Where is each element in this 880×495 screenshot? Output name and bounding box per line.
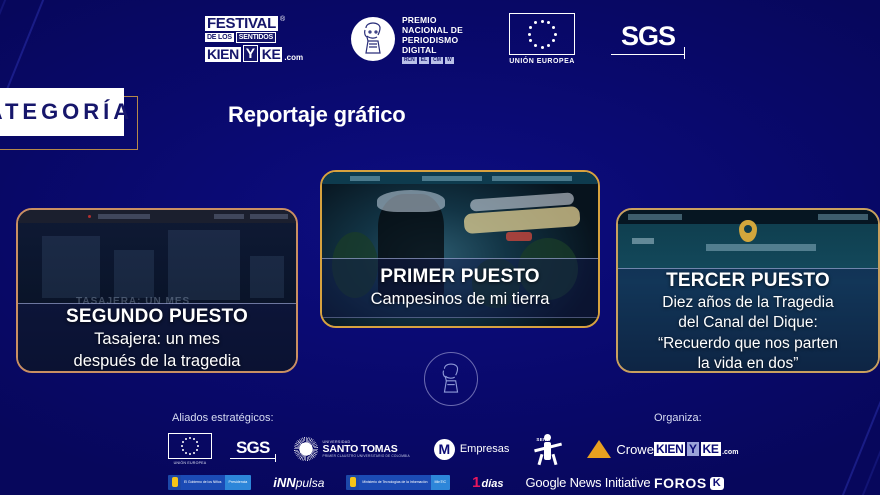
- winner-caption-band-second: SEGUNDO PUESTO Tasajera: un mes después …: [18, 303, 296, 373]
- premio-line-3: PERIODISMO: [402, 35, 463, 45]
- kienyke-y: Y: [687, 442, 699, 456]
- thumbnail-caption: [632, 238, 654, 244]
- premio-line-1: PREMIO: [402, 15, 463, 25]
- kienyke-ke: KE: [701, 442, 721, 456]
- festival-logo-de-los: DE LOS: [205, 33, 234, 42]
- eu-star-icon: [554, 33, 557, 36]
- ministerio-tic-logo: Ministerio de Tecnologías de la Informac…: [346, 475, 450, 490]
- movistar-empresas-text: Empresas: [460, 443, 510, 455]
- allies-logo-row-2: El Gobierno de los Niños Presidencia iNN…: [168, 468, 650, 495]
- eu-star-icon: [528, 33, 531, 36]
- winner-caption-band-third: TERCER PUESTO Diez años de la Tragedia d…: [618, 268, 878, 373]
- allies-label: Aliados estratégicos:: [172, 412, 274, 424]
- santo-tomas-sun-icon: [294, 437, 318, 461]
- organizer-label: Organiza:: [654, 412, 702, 424]
- winner-rank-first: PRIMER PUESTO: [380, 266, 540, 288]
- winner-rank-second: SEGUNDO PUESTO: [66, 306, 248, 328]
- universidad-santo-tomas-logo: UNIVERSIDAD SANTO TOMAS PRIMER CLAUSTRO …: [294, 437, 410, 461]
- premio-tag: CM: [431, 57, 443, 64]
- kienyke-com: .com: [722, 449, 738, 456]
- winner-title-third-line-2: del Canal del Dique:: [678, 313, 818, 333]
- winner-card-first-place[interactable]: PRIMER PUESTO Campesinos de mi tierra: [320, 170, 600, 328]
- thumbnail-pin-icon: [739, 220, 757, 242]
- foros-k-mark: K: [710, 477, 724, 490]
- kienyke-logo-y: Y: [243, 45, 258, 62]
- foros-text: FOROS: [654, 475, 707, 491]
- innpulsa-bold: iNN: [273, 475, 295, 490]
- award-statuette-badge-icon: [424, 352, 478, 406]
- winner-title-first: Campesinos de mi tierra: [371, 289, 550, 310]
- eu-star-icon: [189, 453, 191, 455]
- organizer-logo-row-1: KIEN Y KE .com: [654, 434, 738, 464]
- eu-star-icon: [547, 21, 550, 24]
- winner-title-third-line-3: “Recuerdo que nos parten: [658, 334, 838, 354]
- festival-de-los-sentidos-logo: FESTIVAL ® DE LOS SENTIDOS KIEN Y KE .co…: [205, 16, 305, 62]
- crowe-text: Crowe: [616, 442, 654, 457]
- gobierno-de-colombia-logo: El Gobierno de los Niños Presidencia: [168, 475, 251, 490]
- eu-star-icon: [196, 449, 198, 451]
- thumbnail-hat: [377, 190, 445, 212]
- kienyke-logo-com: .com: [284, 53, 303, 62]
- crowe-mark-icon: [587, 440, 611, 458]
- eu-star-icon: [193, 452, 195, 454]
- mil-dias-number: 1: [472, 474, 480, 491]
- category-banner: CATEGORÍA: [0, 88, 124, 136]
- winner-title-third-line-1: Diez años de la Tragedia: [662, 293, 833, 313]
- eu-star-icon: [552, 26, 555, 29]
- mil-dias-word: días: [481, 478, 503, 490]
- innpulsa-colombia-logo: iNNpulsa: [273, 475, 324, 490]
- eu-star-icon: [547, 44, 550, 47]
- union-europea-logo: UNIÓN EUROPEA: [509, 13, 575, 65]
- award-statuette-icon: [351, 17, 395, 61]
- google-news-initiative-logo: Google News Initiative: [525, 475, 650, 490]
- organizer-logo-row-2: FOROS K: [654, 470, 724, 495]
- colombia-crest-icon: [346, 475, 359, 490]
- mil-dias-logo: 1 días: [472, 474, 503, 491]
- sgs-logo-text: SGS: [621, 23, 675, 50]
- premio-tag: W: [445, 57, 454, 64]
- premio-line-4: DIGITAL: [402, 45, 463, 55]
- premio-tag: RCN: [402, 57, 417, 64]
- premio-line-2: NACIONAL DE: [402, 25, 463, 35]
- mintic-text: Ministerio de Tecnologías de la Informac…: [359, 475, 430, 490]
- eu-star-icon: [182, 441, 184, 443]
- mintic-short: MinTIC: [431, 475, 451, 490]
- eu-star-icon: [185, 438, 187, 440]
- sgs-logo: SGS: [621, 23, 675, 55]
- allies-logo-row-1: UNIÓN EUROPEA SGS UNIVERSIDAD SANTO TOMA…: [168, 432, 654, 466]
- eu-star-icon: [552, 39, 555, 42]
- sgs-logo-tick: [684, 47, 686, 59]
- festival-logo-word: FESTIVAL: [205, 16, 278, 31]
- eu-star-icon: [197, 445, 199, 447]
- sgs-mini-text: SGS: [236, 439, 270, 456]
- santo-tomas-name: SANTO TOMAS: [323, 446, 410, 453]
- winner-card-third-place[interactable]: TERCER PUESTO Diez años de la Tragedia d…: [616, 208, 880, 373]
- premio-tag: EL: [419, 57, 429, 64]
- sena-logo: SENA: [533, 434, 563, 464]
- premio-nacional-periodismo-digital-logo: PREMIO NACIONAL DE PERIODISMO DIGITAL RC…: [351, 15, 463, 64]
- winner-title-third-line-4: la vida en dos”: [698, 354, 799, 373]
- eu-star-icon: [189, 437, 191, 439]
- eu-mini-label: UNIÓN EUROPEA: [168, 461, 212, 465]
- thumbnail-title-lettering: [462, 196, 582, 242]
- premio-media-tags: RCN EL CM W: [402, 57, 463, 64]
- foros-k-logo: FOROS K: [654, 475, 724, 491]
- kienyke-kien: KIEN: [654, 442, 685, 456]
- eu-flag-icon: [509, 13, 575, 55]
- eu-star-icon: [534, 44, 537, 47]
- presentation-slide: FESTIVAL ® DE LOS SENTIDOS KIEN Y KE .co…: [0, 0, 880, 495]
- innpulsa-light: pulsa: [296, 476, 325, 490]
- sgs-logo: SGS: [236, 439, 270, 459]
- page-title: Reportaje gráfico: [228, 102, 406, 128]
- winner-rank-third: TERCER PUESTO: [666, 270, 830, 292]
- gobierno-text: El Gobierno de los Niños: [181, 475, 225, 490]
- presidencia-text: Presidencia: [225, 475, 252, 490]
- header-logo-strip: FESTIVAL ® DE LOS SENTIDOS KIEN Y KE .co…: [0, 8, 880, 70]
- eu-star-icon: [193, 438, 195, 440]
- category-banner-box: CATEGORÍA: [0, 88, 124, 136]
- winner-caption-band-first: PRIMER PUESTO Campesinos de mi tierra: [322, 258, 598, 318]
- eu-star-icon: [541, 46, 544, 49]
- movistar-empresas-logo: Empresas: [434, 439, 510, 460]
- kienyke-logo-kien: KIEN: [205, 47, 241, 62]
- eu-star-icon: [182, 449, 184, 451]
- eu-star-icon: [529, 39, 532, 42]
- thumbnail-headline: [706, 244, 816, 251]
- eu-star-icon: [196, 441, 198, 443]
- eu-star-icon: [181, 445, 183, 447]
- colombia-crest-icon: [168, 475, 181, 490]
- eu-star-icon: [534, 21, 537, 24]
- kienyke-logo: KIEN Y KE .com: [654, 442, 738, 456]
- winner-title-second-line-2: después de la tragedia: [74, 351, 241, 372]
- winner-card-second-place[interactable]: TASAJERA: UN MES SEGUNDO PUESTO Tasajera…: [16, 208, 298, 373]
- movistar-m-icon: [434, 439, 455, 460]
- registered-mark-icon: ®: [280, 16, 285, 23]
- winner-title-second-line-1: Tasajera: un mes: [94, 329, 220, 350]
- festival-logo-sentidos: SENTIDOS: [236, 32, 276, 43]
- sponsor-area: Aliados estratégicos: Organiza: UNIÓN EU…: [0, 412, 880, 495]
- santo-tomas-post: PRIMER CLAUSTRO UNIVERSITARIO DE COLOMBI…: [323, 453, 410, 460]
- category-label: CATEGORÍA: [0, 99, 133, 125]
- kienyke-logo-ke: KE: [260, 47, 283, 62]
- union-europea-logo: UNIÓN EUROPEA: [168, 433, 212, 465]
- crowe-logo: Crowe: [587, 440, 654, 458]
- eu-star-icon: [185, 452, 187, 454]
- eu-star-icon: [541, 20, 544, 23]
- eu-star-icon: [529, 26, 532, 29]
- eu-label: UNIÓN EUROPEA: [509, 58, 575, 65]
- sgs-logo-rule: [611, 54, 685, 56]
